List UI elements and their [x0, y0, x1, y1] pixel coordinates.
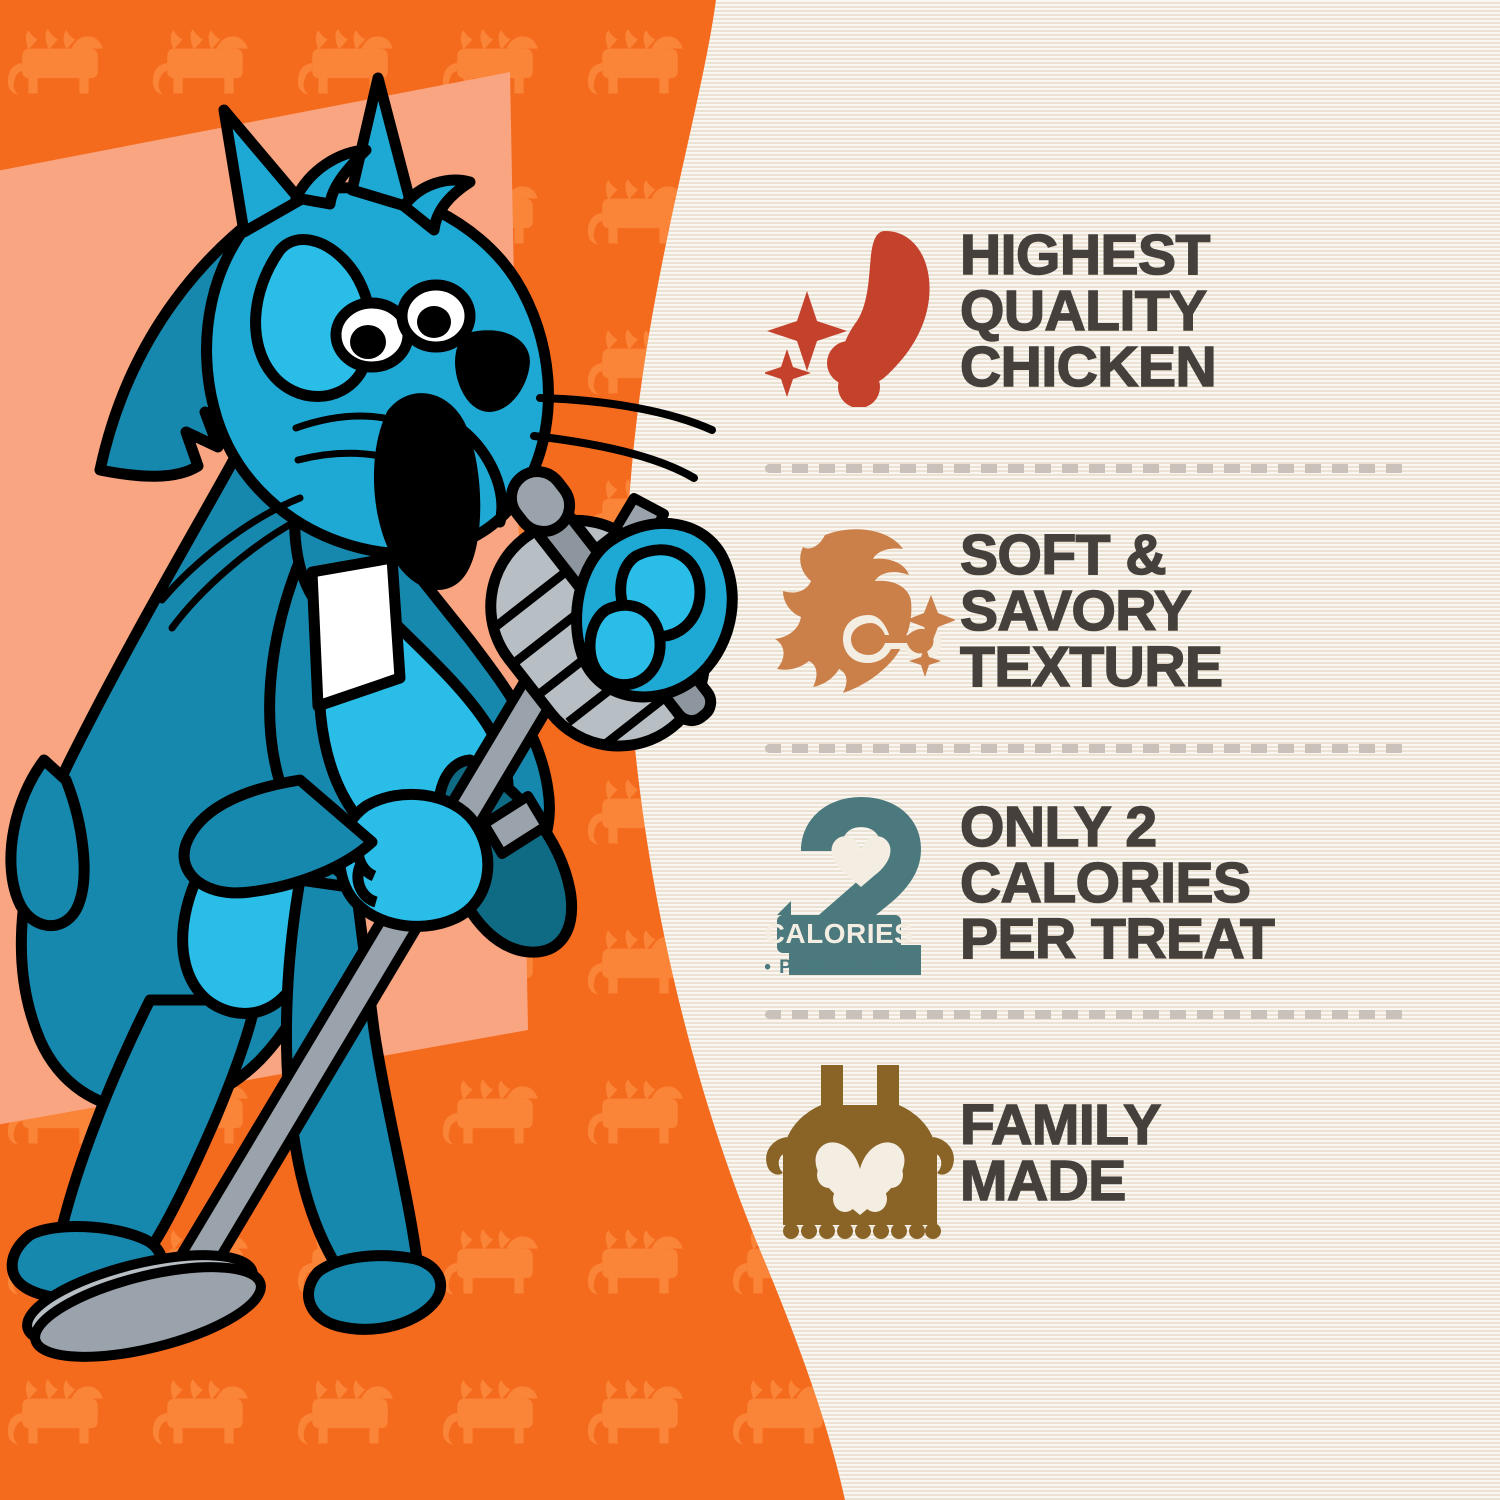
feature-line: HIGHEST	[960, 228, 1216, 284]
feature-line: FAMILY	[960, 1098, 1161, 1154]
feature-item-soft-savory-texture: SOFT & SAVORY TEXTURE	[760, 512, 1460, 712]
feature-line: TEXTURE	[960, 640, 1223, 696]
shredded-chicken-sparkle-icon	[760, 512, 960, 712]
feature-label-highest-quality-chicken: HIGHEST QUALITY CHICKEN	[960, 228, 1216, 396]
badge-calories-text: CALORIES	[765, 918, 913, 949]
feature-line: ONLY 2	[960, 800, 1274, 856]
feature-line: MADE	[960, 1154, 1161, 1210]
divider-3	[765, 1010, 1405, 1019]
feature-line: SOFT &	[960, 528, 1223, 584]
feature-line: PER TREAT	[960, 912, 1274, 968]
feature-line: CHICKEN	[960, 340, 1216, 396]
badge-per-treat-text: • PER TREAT •	[765, 957, 914, 978]
chicken-drumstick-sparkle-icon	[760, 212, 960, 412]
infographic-canvas: HIGHEST QUALITY CHICKEN	[0, 0, 1500, 1500]
feature-item-highest-quality-chicken: HIGHEST QUALITY CHICKEN	[760, 212, 1460, 412]
feature-item-only-2-calories-per-treat: CALORIES • PER TREAT • ONLY 2 CALORIES P…	[760, 784, 1460, 984]
feature-label-family-made: FAMILY MADE	[960, 1098, 1161, 1210]
feature-list: HIGHEST QUALITY CHICKEN	[760, 212, 1460, 1282]
divider-1	[765, 464, 1405, 473]
divider-2	[765, 744, 1405, 753]
feature-label-only-2-calories-per-treat: ONLY 2 CALORIES PER TREAT	[960, 800, 1274, 968]
feature-line: CALORIES	[960, 856, 1274, 912]
feature-label-soft-savory-texture: SOFT & SAVORY TEXTURE	[960, 528, 1223, 696]
feature-line: QUALITY	[960, 284, 1216, 340]
feature-item-family-made: FAMILY MADE	[760, 1054, 1460, 1254]
apron-heart-paw-icon	[760, 1054, 960, 1254]
two-calories-per-treat-badge-icon: CALORIES • PER TREAT •	[760, 784, 960, 984]
feature-line: SAVORY	[960, 584, 1223, 640]
